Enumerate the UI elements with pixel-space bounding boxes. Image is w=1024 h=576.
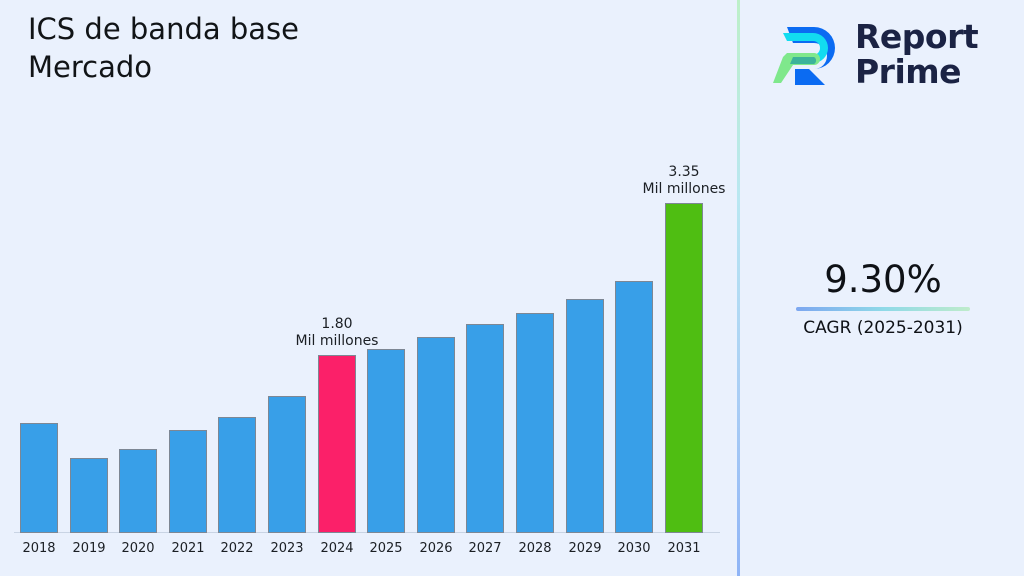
- x-tick-label-2018: 2018: [12, 541, 66, 557]
- bar-2029[interactable]: [566, 299, 604, 533]
- branding-panel: Report Prime 9.30% CAGR (2025-2031): [740, 0, 1024, 576]
- bar-2022[interactable]: [218, 417, 256, 533]
- brand-logo: Report Prime: [773, 12, 1013, 96]
- bar-2020[interactable]: [119, 449, 157, 533]
- x-tick-label-2026: 2026: [409, 541, 463, 557]
- x-tick-label-2021: 2021: [161, 541, 215, 557]
- bar-chart-plot: 20182019202020212022202320241.80 Mil mil…: [0, 0, 738, 576]
- x-tick-label-2024: 2024: [310, 541, 364, 557]
- x-tick-label-2028: 2028: [508, 541, 562, 557]
- cagr-value: 9.30%: [758, 258, 1008, 302]
- bar-2018[interactable]: [20, 423, 58, 533]
- bar-2026[interactable]: [417, 337, 455, 533]
- bar-2028[interactable]: [516, 313, 554, 533]
- x-tick-label-2019: 2019: [62, 541, 116, 557]
- x-tick-label-2022: 2022: [210, 541, 264, 557]
- bar-2023[interactable]: [268, 396, 306, 533]
- x-tick-label-2031: 2031: [657, 541, 711, 557]
- x-tick-label-2029: 2029: [558, 541, 612, 557]
- brand-name: Report Prime: [855, 19, 978, 89]
- x-tick-label-2025: 2025: [359, 541, 413, 557]
- bar-2025[interactable]: [367, 349, 405, 533]
- report-prime-logo-icon: [773, 19, 843, 89]
- chart-screenshot: ICS de banda base Mercado 20182019202020…: [0, 0, 1024, 576]
- cagr-block: 9.30% CAGR (2025-2031): [758, 258, 1008, 339]
- x-tick-label-2020: 2020: [111, 541, 165, 557]
- bar-2021[interactable]: [169, 430, 207, 533]
- chart-panel: ICS de banda base Mercado 20182019202020…: [0, 0, 738, 576]
- x-tick-label-2030: 2030: [607, 541, 661, 557]
- bar-2027[interactable]: [466, 324, 504, 533]
- x-tick-label-2027: 2027: [458, 541, 512, 557]
- bar-2024[interactable]: [318, 355, 356, 533]
- cagr-divider-rule: [796, 307, 970, 311]
- cagr-caption: CAGR (2025-2031): [758, 317, 1008, 339]
- bar-2019[interactable]: [70, 458, 108, 533]
- bar-value-label-2031: 3.35 Mil millones: [624, 164, 744, 198]
- x-tick-label-2023: 2023: [260, 541, 314, 557]
- bar-2030[interactable]: [615, 281, 653, 533]
- bar-value-label-2024: 1.80 Mil millones: [277, 316, 397, 350]
- bar-2031[interactable]: [665, 203, 703, 533]
